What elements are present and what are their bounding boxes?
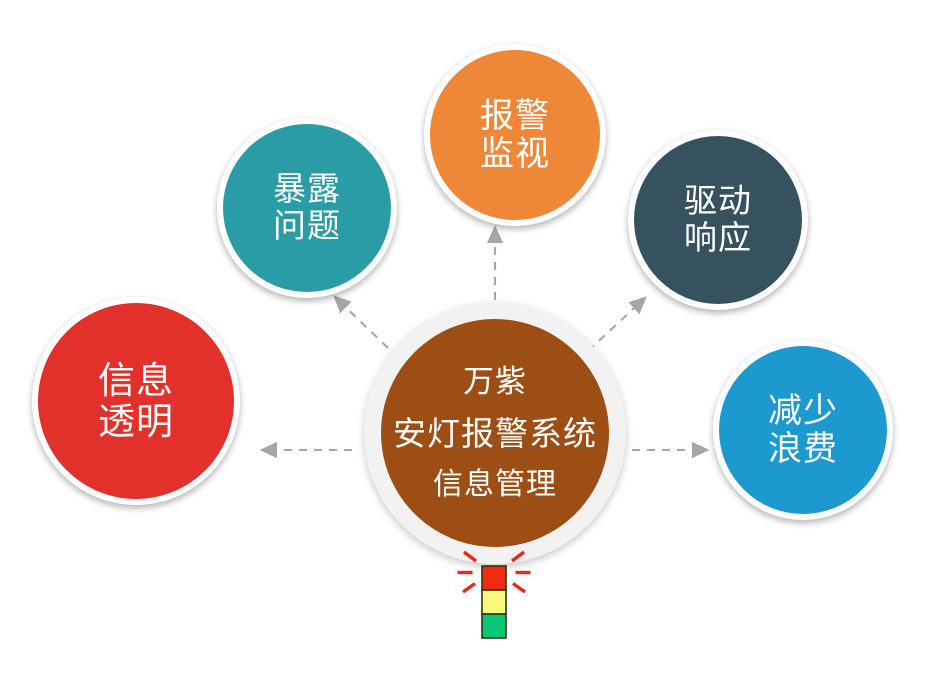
bubble-transparent-information[interactable]: 信息透明 <box>32 297 240 505</box>
center-hub-fill: 万紫 安灯报警系统 信息管理 <box>381 319 609 547</box>
bubble-expose-problems-line2: 问题 <box>273 208 341 245</box>
bubble-expose-problems-line1: 暴露 <box>273 171 341 208</box>
bubble-reduce-waste-fill: 减少浪费 <box>719 346 887 514</box>
center-hub-line3: 信息管理 <box>433 470 557 500</box>
bubble-reduce-waste-line1: 减少 <box>768 392 838 430</box>
andon-ray-2 <box>512 552 524 561</box>
bubble-expose-problems-fill: 暴露问题 <box>223 124 391 292</box>
bubble-transparent-information-fill: 信息透明 <box>38 303 234 499</box>
red-lamp <box>482 566 506 590</box>
bubble-alarm-monitoring-line1: 报警 <box>480 97 550 135</box>
andon-lamps <box>482 566 506 638</box>
center-hub-line2: 安灯报警系统 <box>393 417 597 450</box>
bubble-transparent-information-line2: 透明 <box>98 401 174 442</box>
andon-ray-6 <box>513 584 525 593</box>
arrow-up-left <box>335 297 388 348</box>
green-lamp <box>482 614 506 638</box>
andon-light-icon <box>446 548 542 644</box>
bubble-reduce-waste[interactable]: 减少浪费 <box>713 340 893 520</box>
diagram-canvas: 报警监视暴露问题驱动响应信息透明减少浪费 万紫 安灯报警系统 信息管理 <box>0 0 939 680</box>
bubble-transparent-information-line1: 信息 <box>98 360 174 401</box>
arrow-up-right <box>588 298 645 351</box>
center-hub-line1: 万紫 <box>463 366 527 397</box>
bubble-alarm-monitoring-line2: 监视 <box>480 135 550 173</box>
bubble-drive-response[interactable]: 驱动响应 <box>628 130 808 310</box>
bubble-drive-response-fill: 驱动响应 <box>634 136 802 304</box>
andon-ray-1 <box>464 552 476 561</box>
bubble-drive-response-line2: 响应 <box>684 220 752 257</box>
bubble-drive-response-line1: 驱动 <box>684 183 752 220</box>
bubble-alarm-monitoring[interactable]: 报警监视 <box>424 44 606 226</box>
andon-ray-5 <box>463 584 475 593</box>
center-hub[interactable]: 万紫 安灯报警系统 信息管理 <box>364 302 626 564</box>
bubble-expose-problems[interactable]: 暴露问题 <box>217 118 397 298</box>
bubble-alarm-monitoring-fill: 报警监视 <box>430 50 600 220</box>
bubble-reduce-waste-line2: 浪费 <box>768 430 838 468</box>
yellow-lamp <box>482 590 506 614</box>
